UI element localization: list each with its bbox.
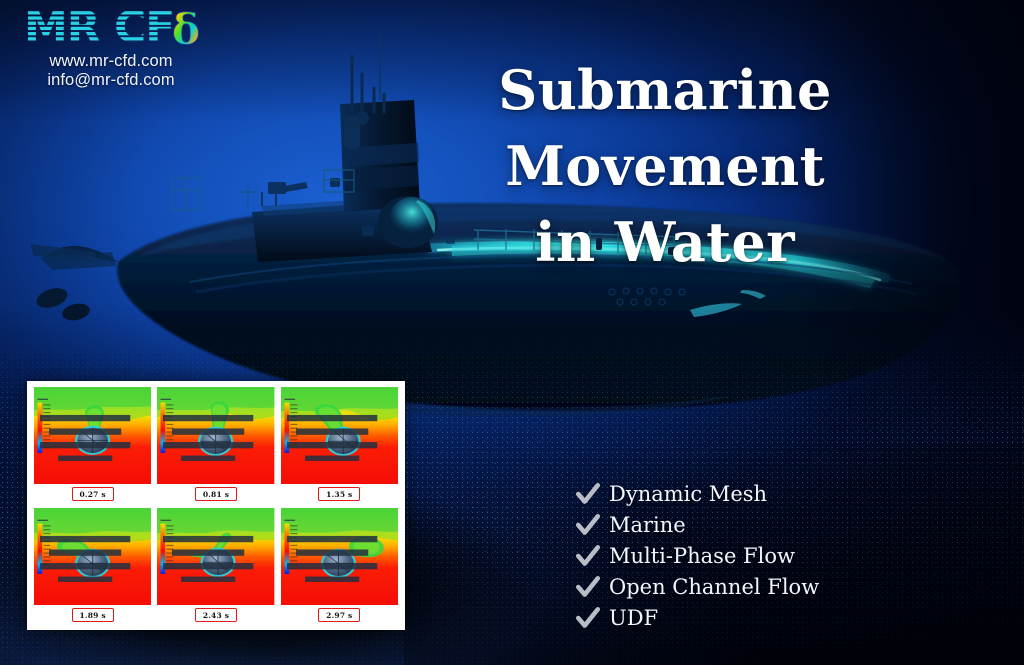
feature-label: Marine <box>609 513 686 537</box>
mr-cfd-logo[interactable]: MR CF δ <box>24 6 228 52</box>
contour-plot <box>34 508 151 605</box>
mr-cfd-watermark <box>34 389 148 484</box>
poster-canvas: MR CF δ www.mr-cfd.com info@mr-cfd.com S… <box>0 0 1024 665</box>
feature-list: Dynamic Mesh Marine Multi-Phase Flow Ope… <box>575 478 905 633</box>
cfd-panel[interactable]: 1.89 s <box>34 508 151 626</box>
contour-plot <box>157 508 274 605</box>
time-label: 2.97 s <box>318 608 360 622</box>
title-line-1: Submarine Movement <box>498 58 831 198</box>
mr-cfd-watermark <box>157 510 271 605</box>
logo-wordmark: MR CF δ <box>24 6 224 52</box>
cfd-results-panel[interactable]: 0.27 s <box>27 381 405 630</box>
cfd-contour-d-glyph: δ <box>172 6 200 52</box>
cfd-panel[interactable]: 2.43 s <box>157 508 274 626</box>
time-label: 1.89 s <box>72 608 114 622</box>
check-icon <box>575 574 601 600</box>
title-line-2: in Water <box>340 204 990 280</box>
cfd-panel[interactable]: 2.97 s <box>281 508 398 626</box>
feature-label: Multi-Phase Flow <box>609 544 795 568</box>
cfd-panel[interactable]: 0.81 s <box>157 387 274 505</box>
contour-plot <box>281 508 398 605</box>
list-item: Marine <box>575 509 905 540</box>
list-item: Open Channel Flow <box>575 571 905 602</box>
cfd-panel[interactable]: 0.27 s <box>34 387 151 505</box>
svg-text:CF: CF <box>114 6 174 52</box>
mr-cfd-watermark <box>281 510 395 605</box>
mr-cfd-watermark <box>34 510 148 605</box>
check-icon <box>575 512 601 538</box>
time-label: 2.43 s <box>195 608 237 622</box>
contour-plot <box>157 387 274 484</box>
feature-label: Open Channel Flow <box>609 575 819 599</box>
page-title: Submarine Movement in Water <box>340 52 990 280</box>
cfd-panel-grid: 0.27 s <box>34 387 398 626</box>
time-label: 0.81 s <box>195 487 237 501</box>
time-label: 1.35 s <box>318 487 360 501</box>
check-icon <box>575 481 601 507</box>
check-icon <box>575 543 601 569</box>
feature-label: UDF <box>609 606 658 630</box>
brand-website[interactable]: www.mr-cfd.com <box>18 52 204 71</box>
list-item: Multi-Phase Flow <box>575 540 905 571</box>
mr-cfd-watermark <box>281 389 395 484</box>
list-item: Dynamic Mesh <box>575 478 905 509</box>
svg-text:MR: MR <box>24 6 100 52</box>
brand-email[interactable]: info@mr-cfd.com <box>18 71 204 90</box>
svg-text:δ: δ <box>172 6 200 52</box>
feature-label: Dynamic Mesh <box>609 482 767 506</box>
list-item: UDF <box>575 602 905 633</box>
time-label: 0.27 s <box>72 487 114 501</box>
check-icon <box>575 605 601 631</box>
contour-plot <box>281 387 398 484</box>
contour-plot <box>34 387 151 484</box>
cfd-panel[interactable]: 1.35 s <box>281 387 398 505</box>
brand-logo-block[interactable]: MR CF δ www.mr-cfd.com info@mr-cfd.com <box>18 6 228 90</box>
mr-cfd-watermark <box>157 389 271 484</box>
